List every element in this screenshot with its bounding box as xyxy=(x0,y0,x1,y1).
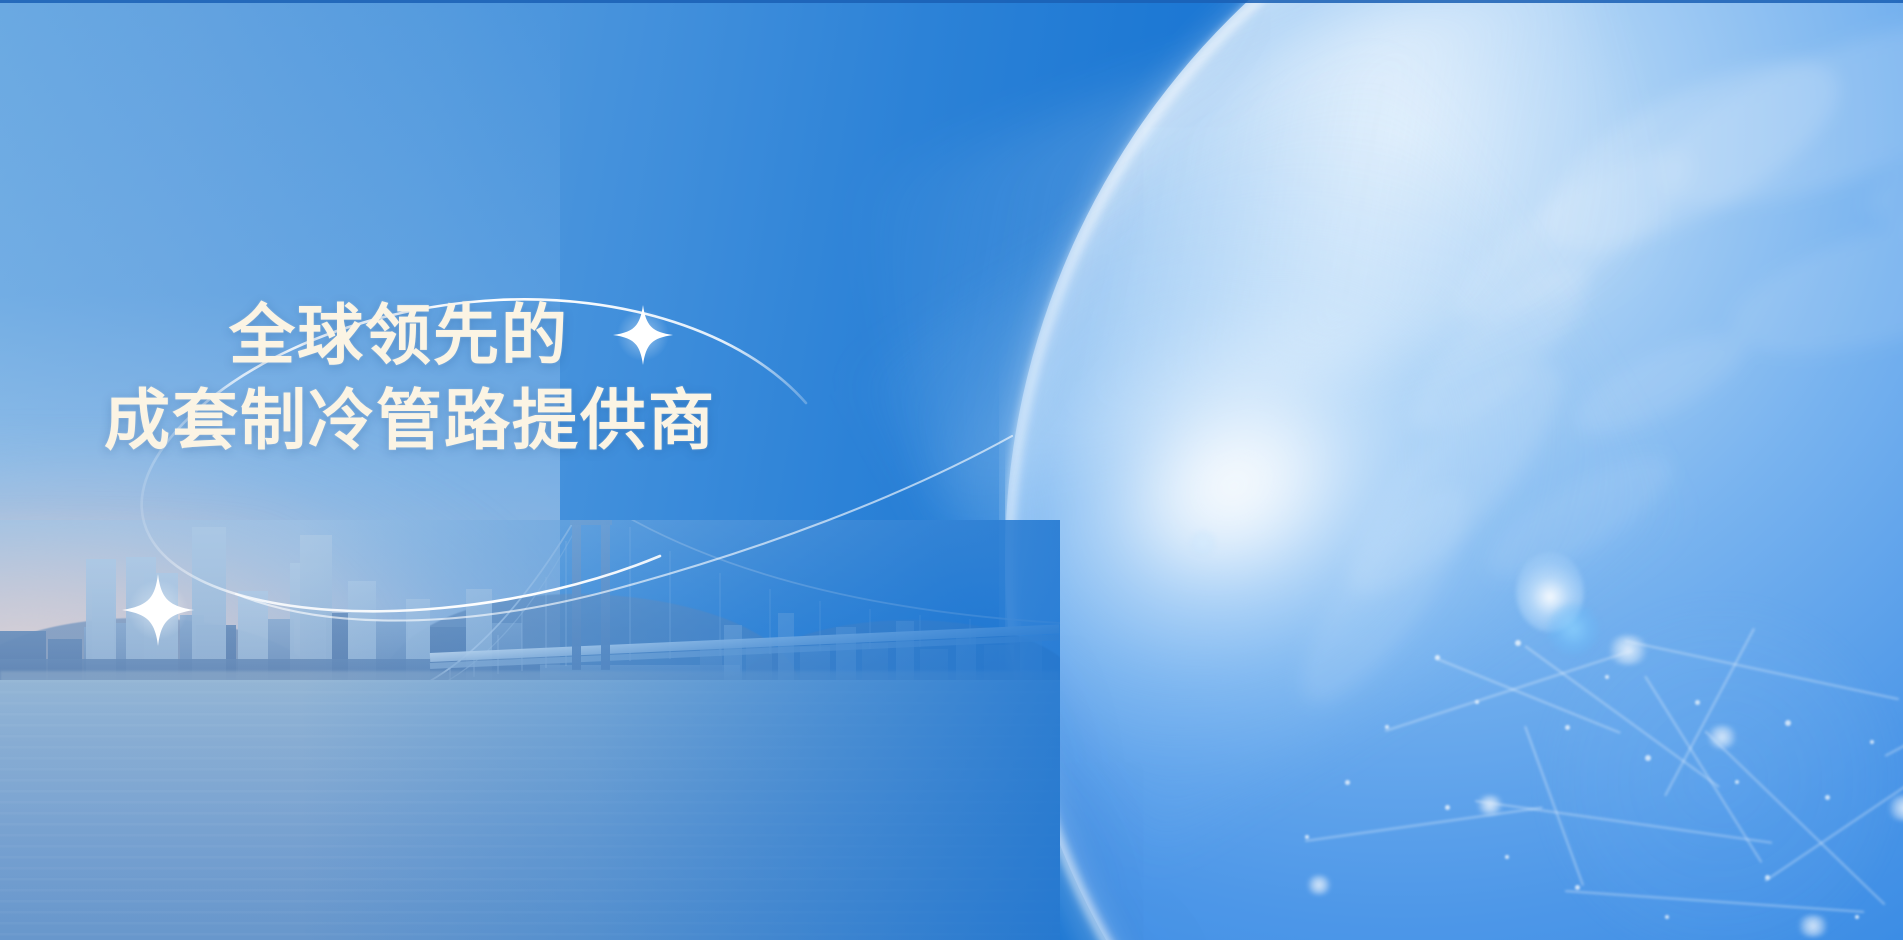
bridge-tower xyxy=(570,520,612,670)
sea-water xyxy=(0,680,1060,940)
headline-line-1: 全球领先的 xyxy=(229,300,924,371)
headline-line-2: 成套制冷管路提供商 xyxy=(104,385,924,456)
headline: 全球领先的 成套制冷管路提供商 xyxy=(104,300,924,455)
city-waterfront-landscape xyxy=(0,520,1060,940)
globe-city-lights xyxy=(1005,0,1903,940)
hero-banner: 全球领先的 成套制冷管路提供商 xyxy=(0,0,1903,940)
top-edge-line xyxy=(0,0,1903,3)
